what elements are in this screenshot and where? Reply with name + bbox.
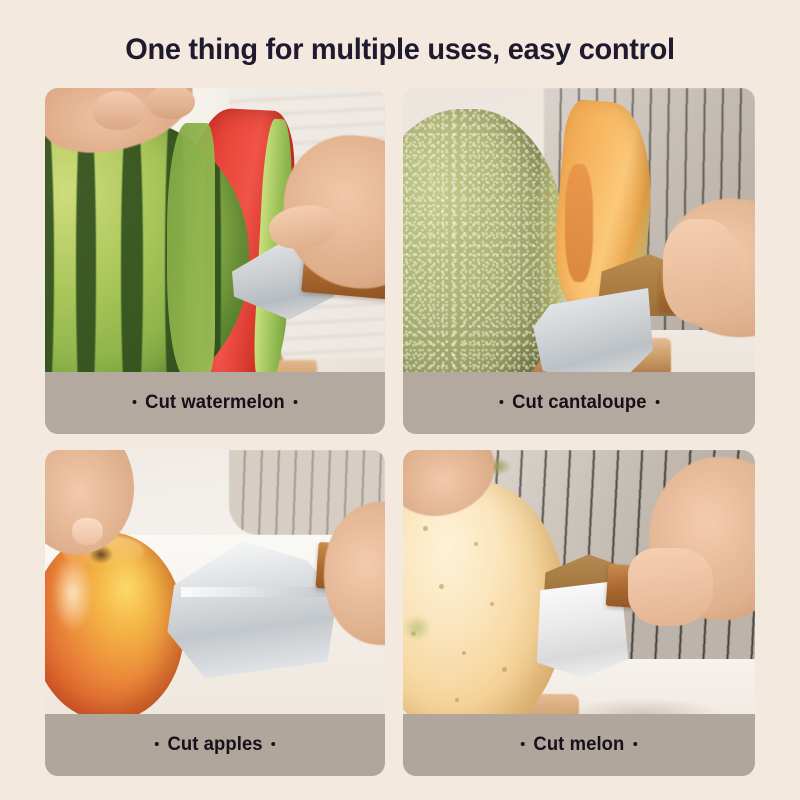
- caption-text: Cut watermelon: [133, 392, 298, 414]
- feature-panel-watermelon[interactable]: Cut watermelon: [45, 88, 385, 434]
- watermelon-cut-face: [167, 123, 215, 379]
- caption-label: Cut cantaloupe: [512, 392, 646, 413]
- panel-caption-bar: Cut melon: [403, 714, 755, 776]
- caption-label: Cut apples: [167, 734, 262, 755]
- bullet-dot-right: [294, 400, 298, 404]
- left-hand-finger: [93, 91, 144, 129]
- watermelon: [45, 116, 249, 407]
- bullet-dot-left: [155, 742, 159, 746]
- right-hand-fingers: [663, 219, 740, 323]
- left-hand-fingernail: [72, 518, 103, 544]
- bullet-dot-left: [133, 400, 137, 404]
- right-hand-fingers: [628, 548, 712, 626]
- bullet-dot-right: [271, 742, 275, 746]
- caption-label: Cut melon: [534, 734, 625, 755]
- left-hand-finger-2: [147, 88, 195, 119]
- page-title: One thing for multiple uses, easy contro…: [14, 33, 786, 67]
- feature-panel-cantaloupe[interactable]: Cut cantaloupe: [403, 88, 755, 434]
- melon-green-patch: [403, 615, 431, 641]
- feature-panel-melon[interactable]: Cut melon: [403, 450, 755, 776]
- caption-text: Cut apples: [155, 734, 275, 756]
- apple-highlight: [52, 554, 93, 632]
- caption-label: Cut watermelon: [145, 392, 285, 413]
- bullet-dot-right: [633, 742, 637, 746]
- bullet-dot-left: [521, 742, 525, 746]
- panel-caption-bar: Cut watermelon: [45, 372, 385, 434]
- caption-text: Cut cantaloupe: [499, 392, 659, 414]
- cutter-blade-fold: [181, 587, 331, 597]
- product-feature-poster: One thing for multiple uses, easy contro…: [0, 0, 800, 800]
- cantaloupe-seed-cavity: [565, 164, 593, 282]
- caption-text: Cut melon: [521, 734, 637, 756]
- cantaloupe: [403, 109, 565, 407]
- panel-caption-bar: Cut apples: [45, 714, 385, 776]
- feature-panel-apples[interactable]: Cut apples: [45, 450, 385, 776]
- bullet-dot-left: [499, 400, 503, 404]
- bullet-dot-right: [655, 400, 659, 404]
- panel-caption-bar: Cut cantaloupe: [403, 372, 755, 434]
